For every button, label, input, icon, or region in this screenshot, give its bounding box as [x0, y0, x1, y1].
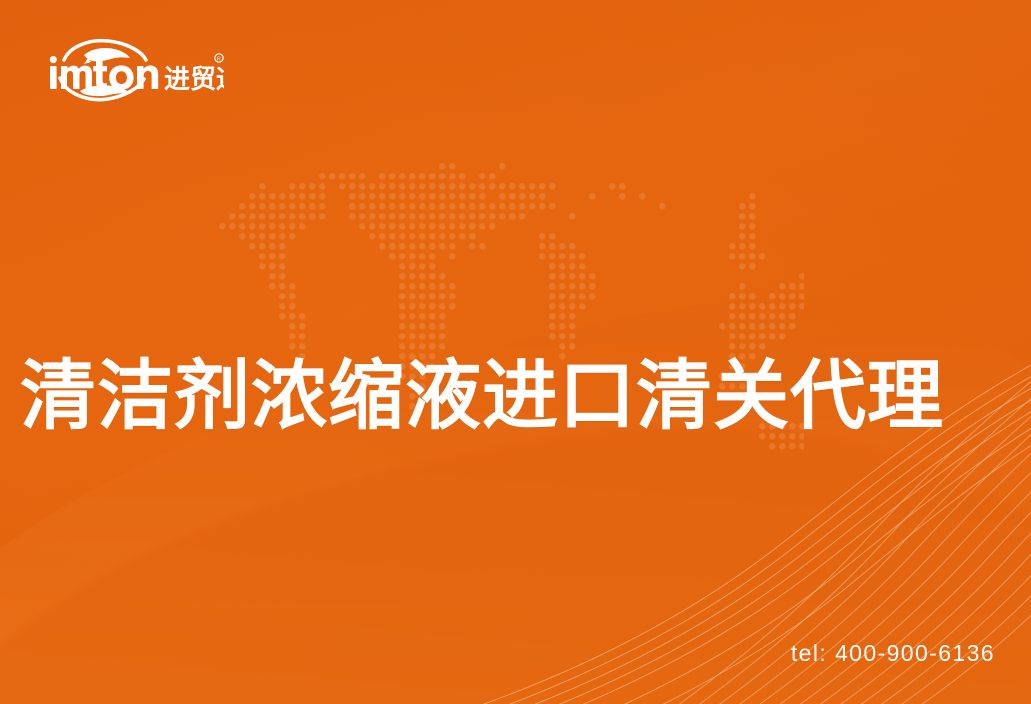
registered-r-letter: R — [217, 56, 221, 62]
promo-banner: 进贸通 R 清洁剂浓缩液进口清关代理 tel: 400-900-6136 — [0, 0, 1031, 704]
logo-wordmark — [50, 56, 159, 90]
page-title: 清洁剂浓缩液进口清关代理 — [20, 351, 1015, 441]
logo-chinese-name: 进贸通 — [164, 65, 224, 95]
svg-text:进贸通: 进贸通 — [164, 65, 224, 95]
bird-icon — [84, 48, 130, 66]
contact-phone[interactable]: tel: 400-900-6136 — [791, 640, 995, 667]
brand-logo[interactable]: 进贸通 R — [44, 34, 224, 106]
